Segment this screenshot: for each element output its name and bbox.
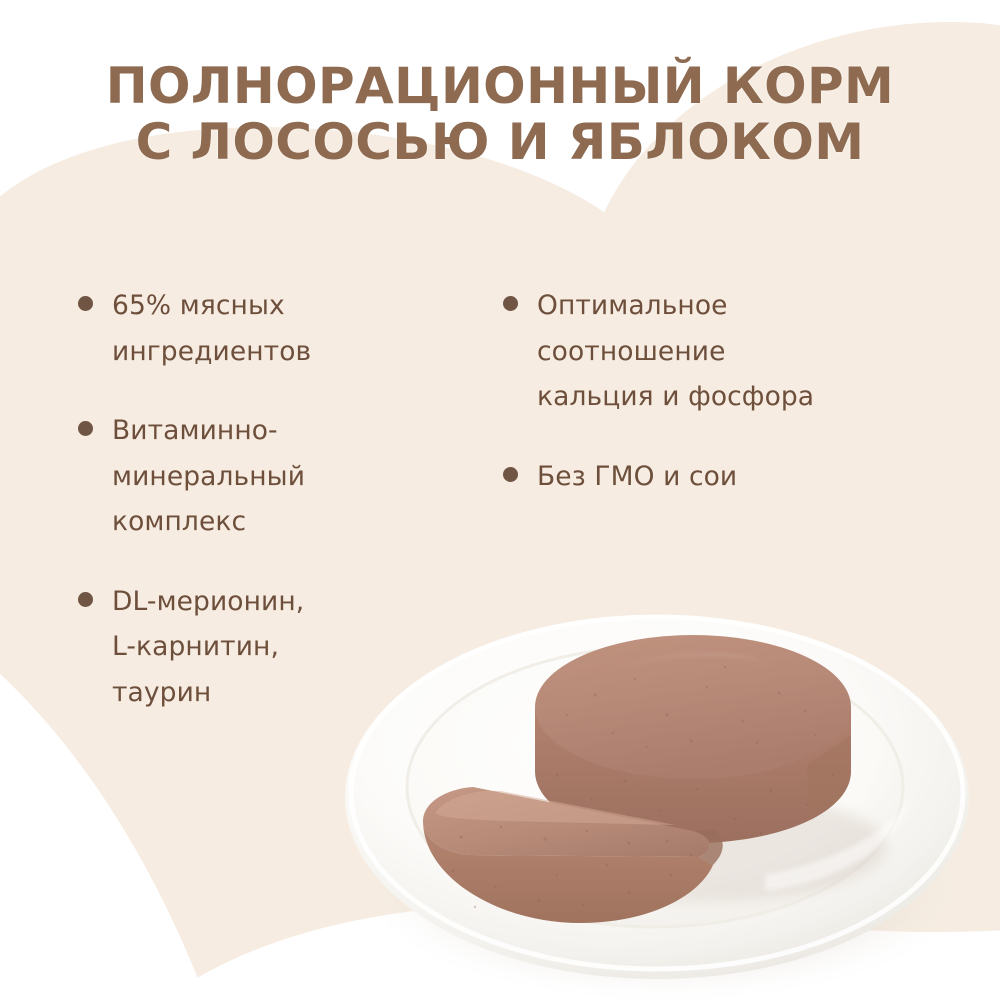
pate-cylinder-top xyxy=(535,635,851,779)
headline-line-1: ПОЛНОРАЦИОННЫЙ КОРМ xyxy=(0,58,1000,114)
feature-text-line: ингредиентов xyxy=(112,336,311,367)
feature-text: 65% мясных ингредиентов xyxy=(112,283,311,374)
feature-text-line: Витаминно- xyxy=(112,415,278,446)
list-item: Витаминно- минеральный комплекс xyxy=(78,408,448,545)
feature-text: DL-мерионин, L-карнитин, таурин xyxy=(112,579,304,716)
feature-text: Витаминно- минеральный комплекс xyxy=(112,408,305,545)
feature-text: Оптимальное соотношение кальция и фосфор… xyxy=(537,283,814,420)
feature-text-line: Без ГМО и сои xyxy=(537,461,737,492)
list-item: Без ГМО и сои xyxy=(503,454,933,500)
bullet-dot-icon xyxy=(503,467,518,482)
bullet-dot-icon xyxy=(78,296,93,311)
feature-text-line: таурин xyxy=(112,677,211,708)
bullet-dot-icon xyxy=(78,592,93,607)
feature-text-line: 65% мясных xyxy=(112,290,285,321)
feature-text-line: L-карнитин, xyxy=(112,631,279,662)
feature-text: Без ГМО и сои xyxy=(537,454,737,500)
headline: ПОЛНОРАЦИОННЫЙ КОРМ С ЛОСОСЬЮ И ЯБЛОКОМ xyxy=(0,58,1000,170)
feature-column-right: Оптимальное соотношение кальция и фосфор… xyxy=(503,283,933,533)
feature-text-line: DL-мерионин, xyxy=(112,586,304,617)
feature-text-line: кальция и фосфора xyxy=(537,381,814,412)
feature-column-left: 65% мясных ингредиентов Витаминно- минер… xyxy=(78,283,448,750)
feature-text-line: соотношение xyxy=(537,336,725,367)
list-item: DL-мерионин, L-карнитин, таурин xyxy=(78,579,448,716)
feature-text-line: комплекс xyxy=(112,506,246,537)
bullet-dot-icon xyxy=(503,296,518,311)
feature-text-line: минеральный xyxy=(112,461,305,492)
feature-columns: 65% мясных ингредиентов Витаминно- минер… xyxy=(0,283,1000,583)
list-item: Оптимальное соотношение кальция и фосфор… xyxy=(503,283,933,420)
infographic-canvas: ПОЛНОРАЦИОННЫЙ КОРМ С ЛОСОСЬЮ И ЯБЛОКОМ … xyxy=(0,0,1000,1000)
bullet-dot-icon xyxy=(78,421,93,436)
list-item: 65% мясных ингредиентов xyxy=(78,283,448,374)
feature-text-line: Оптимальное xyxy=(537,290,728,321)
headline-line-2: С ЛОСОСЬЮ И ЯБЛОКОМ xyxy=(0,114,1000,170)
